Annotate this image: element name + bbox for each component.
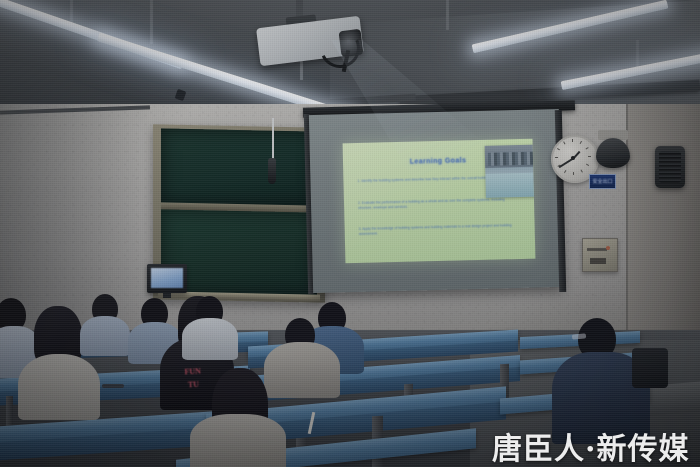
right-wall — [626, 104, 700, 354]
blackboard-upper-panel — [161, 128, 317, 207]
clock-tick — [555, 157, 558, 158]
wall-control-panel[interactable] — [582, 238, 618, 272]
desk-item-phone — [102, 384, 124, 388]
clock-tick — [573, 172, 574, 175]
exit-sign: 安全出口 — [589, 174, 616, 189]
torso — [18, 354, 100, 420]
torso — [182, 318, 238, 360]
watermark: 唐臣人·新传媒 — [492, 424, 689, 467]
classroom-photo: Learning Goals 1. Identify the building … — [0, 0, 700, 467]
wall-speaker-grille — [659, 151, 681, 183]
wall-panel-indicator — [606, 246, 610, 250]
wall-corner-edge — [626, 104, 628, 354]
clock-center-pin — [571, 156, 575, 160]
jacket-print-line-1: FUN — [184, 367, 201, 377]
clock-tick — [588, 156, 591, 157]
hanging-microphone — [268, 158, 276, 184]
exit-sign-text: 安全出口 — [592, 178, 612, 185]
microphone-cable — [272, 118, 274, 160]
light-pendant-rod — [446, 0, 449, 30]
jacket-print: FUN TU — [169, 363, 216, 391]
torso — [190, 414, 286, 467]
slide-bullet-3: 3. Apply the knowledge of building syste… — [359, 223, 519, 237]
light-pendant-rod — [150, 0, 153, 44]
clock-tick — [572, 139, 573, 142]
jacket-print-line-2: TU — [188, 380, 200, 390]
ceiling-speaker — [596, 138, 630, 168]
desk-leg — [6, 396, 13, 428]
torso — [264, 342, 340, 398]
wall-panel-slot — [587, 248, 607, 251]
wall-panel-label — [590, 258, 606, 264]
torso — [80, 316, 130, 356]
podium-monitor-screen — [151, 268, 183, 288]
podium-monitor-stand — [163, 293, 171, 298]
chair-back — [632, 348, 668, 388]
